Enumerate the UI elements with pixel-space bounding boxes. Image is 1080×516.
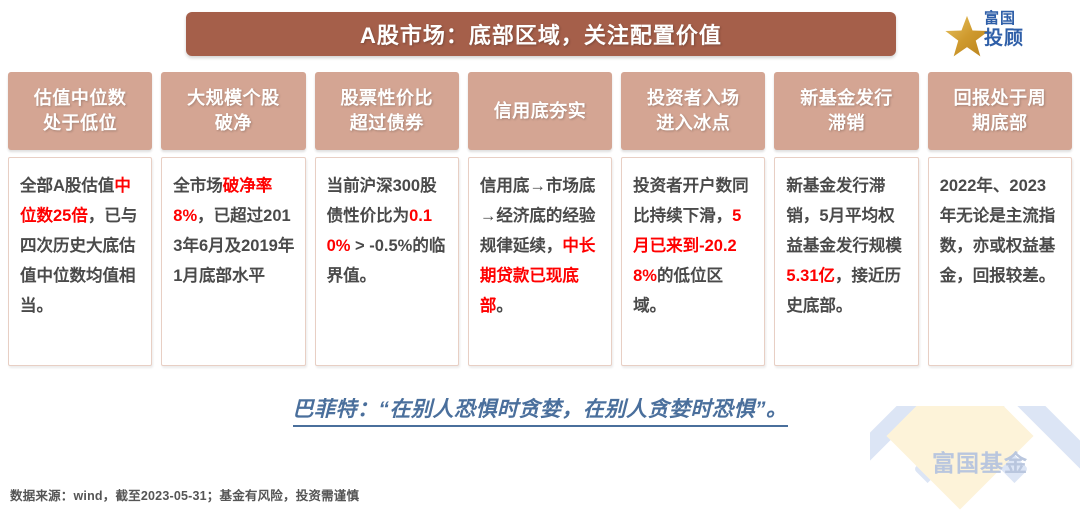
column-header-4: 信用底夯实 (468, 72, 612, 150)
column-body-text: 全部A股估值中位数25倍，已与四次历史大底估值中位数均值相当。 (20, 171, 142, 321)
quote-section: 巴菲特：“在别人恐惧时贪婪，在别人贪婪时恐惧”。 (0, 393, 1080, 427)
criteria-column: 信用底夯实信用底→市场底→经济底的经验规律延续，中长期贷款已现底部。 (468, 72, 612, 366)
column-header-label: 新基金发行 滞销 (800, 86, 893, 136)
page-title: A股市场：底部区域，关注配置价值 (360, 18, 722, 50)
column-header-label: 大规模个股 破净 (187, 86, 280, 136)
column-header-1: 估值中位数 处于低位 (8, 72, 152, 150)
logo-line-1: 富国 (984, 10, 1070, 28)
column-header-6: 新基金发行 滞销 (774, 72, 918, 150)
body-text-segment: 新基金发行滞销，5月平均权益基金发行规模 (786, 177, 902, 255)
column-header-label: 回报处于周 期底部 (954, 86, 1047, 136)
page-header: A股市场：底部区域，关注配置价值 富国 投顾 (0, 0, 1080, 72)
column-header-3: 股票性价比 超过债券 (315, 72, 459, 150)
column-body-1: 全部A股估值中位数25倍，已与四次历史大底估值中位数均值相当。 (8, 157, 152, 366)
body-text-segment: 全市场 (173, 177, 223, 195)
criteria-column: 回报处于周 期底部2022年、2023年无论是主流指数，亦或权益基金，回报较差。 (928, 72, 1072, 366)
column-body-7: 2022年、2023年无论是主流指数，亦或权益基金，回报较差。 (928, 157, 1072, 366)
column-body-3: 当前沪深300股债性价比为0.10% > -0.5%的临界值。 (315, 157, 459, 366)
data-source-footnote: 数据来源：wind，截至2023-05-31；基金有风险，投资需谨慎 (10, 485, 359, 504)
column-header-label: 股票性价比 超过债券 (340, 86, 433, 136)
column-header-label: 估值中位数 处于低位 (34, 86, 127, 136)
column-body-5: 投资者开户数同比持续下滑，5月已来到-20.28%的低位区域。 (621, 157, 765, 366)
watermark-label: 富国基金 (900, 444, 1060, 478)
column-body-4: 信用底→市场底→经济底的经验规律延续，中长期贷款已现底部。 (468, 157, 612, 366)
logo-line-2: 投顾 (984, 28, 1070, 50)
logo-wordmark: 富国 投顾 (984, 10, 1070, 50)
body-text-segment: 全部A股估值 (20, 177, 114, 195)
column-header-label: 投资者入场 进入冰点 (647, 86, 740, 136)
column-header-2: 大规模个股 破净 (161, 72, 305, 150)
column-body-text: 全市场破净率8%，已超过2013年6月及2019年1月底部水平 (173, 171, 295, 291)
column-header-5: 投资者入场 进入冰点 (621, 72, 765, 150)
criteria-column: 新基金发行 滞销新基金发行滞销，5月平均权益基金发行规模5.31亿，接近历史底部… (774, 72, 918, 366)
criteria-column: 投资者入场 进入冰点投资者开户数同比持续下滑，5月已来到-20.28%的低位区域… (621, 72, 765, 366)
criteria-column: 大规模个股 破净全市场破净率8%，已超过2013年6月及2019年1月底部水平 (161, 72, 305, 366)
column-header-label: 信用底夯实 (494, 99, 587, 124)
column-body-2: 全市场破净率8%，已超过2013年6月及2019年1月底部水平 (161, 157, 305, 366)
column-body-text: 信用底→市场底→经济底的经验规律延续，中长期贷款已现底部。 (480, 171, 602, 321)
buffett-quote: 巴菲特：“在别人恐惧时贪婪，在别人贪婪时恐惧”。 (293, 393, 788, 427)
column-body-text: 投资者开户数同比持续下滑，5月已来到-20.28%的低位区域。 (633, 171, 755, 321)
criteria-columns: 估值中位数 处于低位全部A股估值中位数25倍，已与四次历史大底估值中位数均值相当… (0, 72, 1080, 366)
company-logo: 富国 投顾 (944, 6, 1068, 60)
column-body-text: 2022年、2023年无论是主流指数，亦或权益基金，回报较差。 (940, 171, 1062, 291)
column-body-6: 新基金发行滞销，5月平均权益基金发行规模5.31亿，接近历史底部。 (774, 157, 918, 366)
column-body-text: 新基金发行滞销，5月平均权益基金发行规模5.31亿，接近历史底部。 (786, 171, 908, 321)
column-body-text: 当前沪深300股债性价比为0.10% > -0.5%的临界值。 (327, 171, 449, 291)
criteria-column: 股票性价比 超过债券当前沪深300股债性价比为0.10% > -0.5%的临界值… (315, 72, 459, 366)
criteria-column: 估值中位数 处于低位全部A股估值中位数25倍，已与四次历史大底估值中位数均值相当… (8, 72, 152, 366)
body-text-segment: 。 (496, 297, 513, 315)
column-header-7: 回报处于周 期底部 (928, 72, 1072, 150)
highlighted-figure: 5.31亿 (786, 267, 835, 285)
body-text-segment: 2022年、2023年无论是主流指数，亦或权益基金，回报较差。 (940, 177, 1056, 285)
title-banner: A股市场：底部区域，关注配置价值 (186, 12, 896, 56)
